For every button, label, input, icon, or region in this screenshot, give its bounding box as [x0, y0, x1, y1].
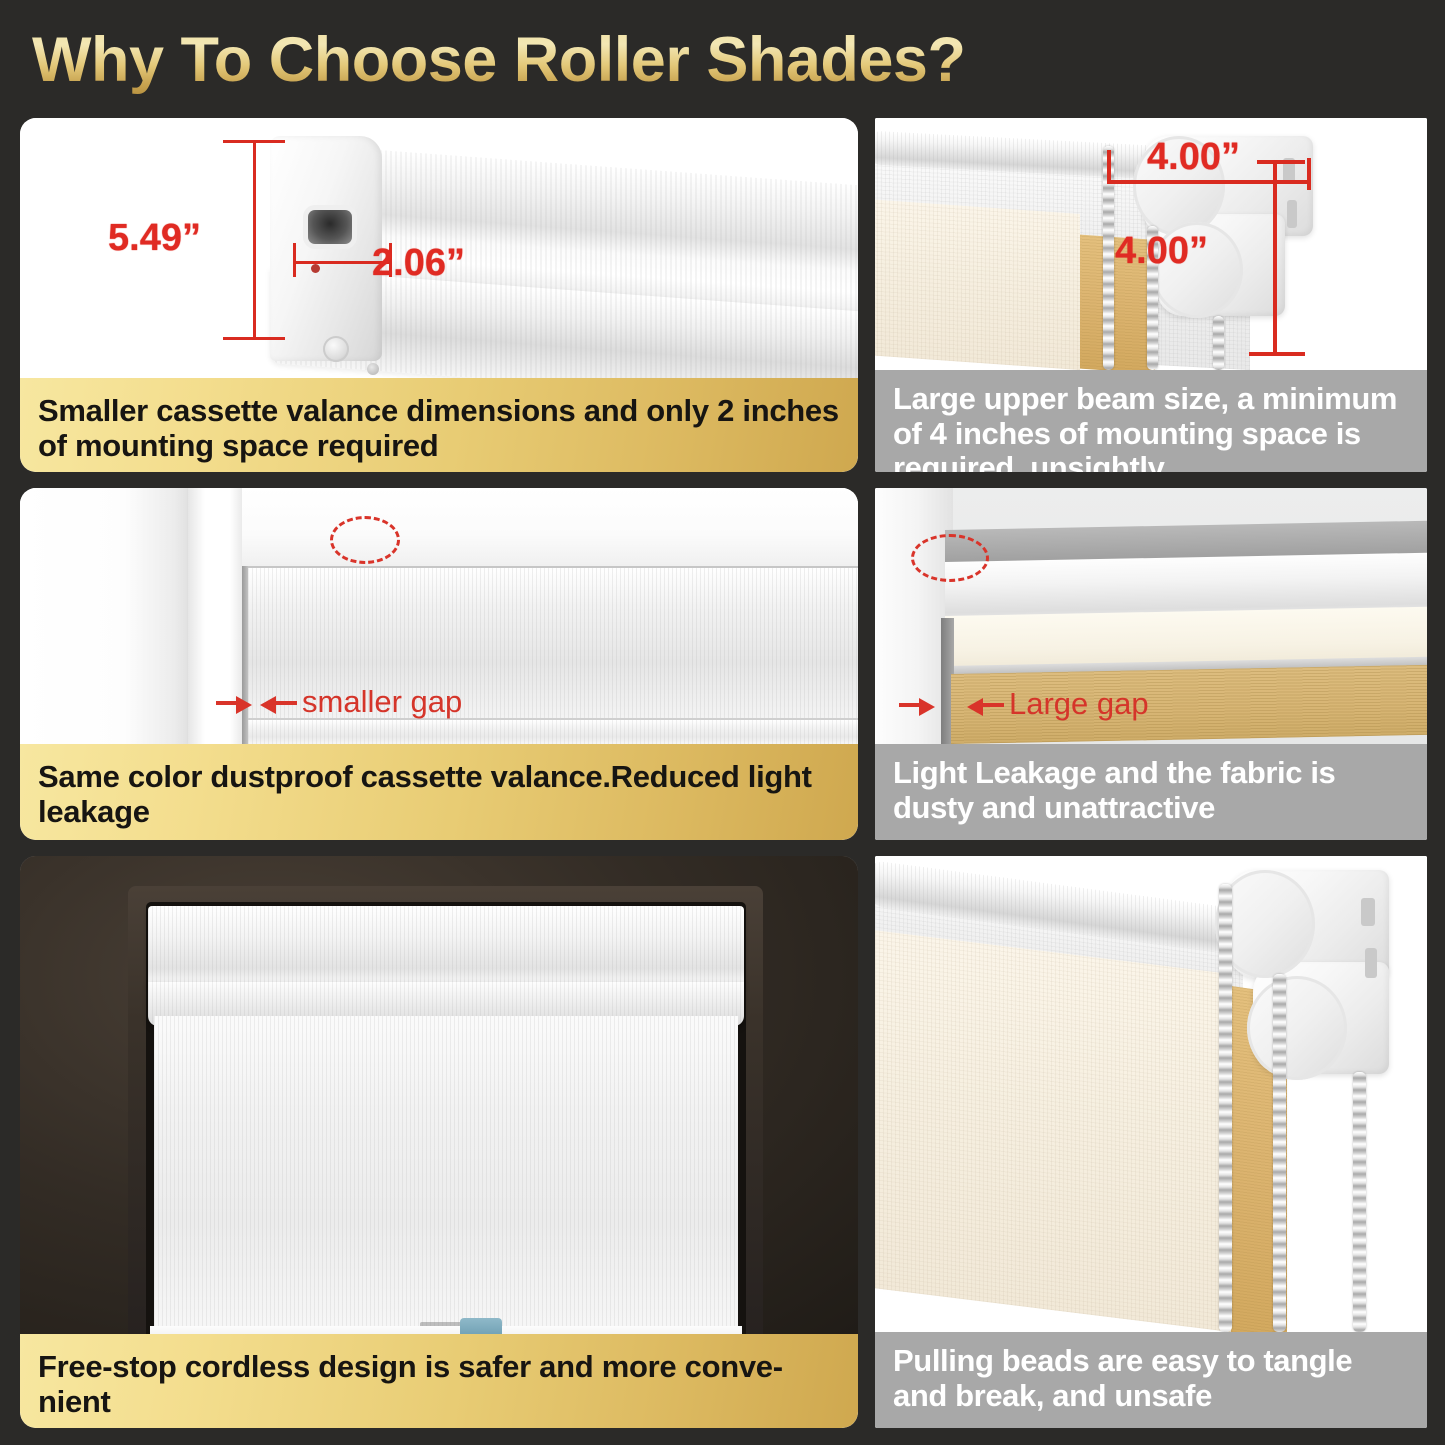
caption-text: Pulling beads are easy to tangle and bre… [893, 1344, 1409, 1413]
height-dimension-cap-top [223, 140, 285, 143]
beam-height-cap-bottom [1249, 352, 1305, 356]
shade-fabric-cream [875, 929, 1231, 1332]
gap-arrow-left-stem [216, 701, 238, 705]
gap-arrow-right-stem [275, 701, 297, 705]
shade-fabric-cream [875, 199, 1080, 370]
width-dimension-cap-left [293, 243, 296, 277]
cassette-valance [148, 906, 744, 986]
panel-large-upper-beam: 4.00” 4.00” Large upper beam size, a min… [875, 118, 1427, 472]
photo-large-upper-beam: 4.00” 4.00” [875, 118, 1427, 370]
gap-arrow-left-stem [899, 703, 921, 707]
panel-dustproof-cassette-valance: smaller gap Same color dustproof cassett… [20, 488, 858, 840]
height-dimension-label: 5.49” [108, 217, 201, 260]
smaller-gap-label: smaller gap [302, 684, 462, 720]
valance-screw-small [367, 363, 379, 375]
bead-chain-right [1353, 1072, 1366, 1332]
bead-chain-middle [1273, 974, 1286, 1332]
gap-arrow-left [236, 696, 252, 714]
caption-text: Light Leakage and the fabric is dusty an… [893, 756, 1409, 825]
caption-text: Same color dustproof cassette valance.Re… [38, 760, 840, 829]
photo-cordless-window [20, 856, 858, 1334]
width-dimension-label: 2.06” [372, 242, 465, 285]
bracket-lobe-lower [1247, 976, 1347, 1080]
caption-pulling-beads: Pulling beads are easy to tangle and bre… [875, 1332, 1427, 1428]
page-title: Why To Choose Roller Shades? [32, 24, 1032, 96]
photo-light-leakage: Large gap [875, 488, 1427, 744]
pull-tab [460, 1318, 502, 1334]
gap-highlight-circle [330, 516, 400, 564]
shade-lower-section [248, 718, 858, 744]
beam-width-label: 4.00” [1147, 136, 1240, 179]
shade-fabric [154, 1016, 738, 1334]
photo-dustproof-valance: smaller gap [20, 488, 858, 744]
bracket-slot-bottom [1287, 200, 1297, 228]
panel-free-stop-cordless: Free-stop cordless design is safer and m… [20, 856, 858, 1428]
caption-cassette-valance-dimensions: Smaller cassette valance dimensions and … [20, 378, 858, 472]
bottom-rail [150, 1326, 742, 1334]
gap-arrow-right [967, 698, 983, 716]
infographic-root: Why To Choose Roller Shades? 5.49” 2.06”… [0, 0, 1445, 1445]
caption-dustproof-cassette-valance: Same color dustproof cassette valance.Re… [20, 744, 858, 840]
large-gap-label: Large gap [1009, 686, 1149, 722]
valance-screw [323, 336, 349, 362]
gap-arrow-right [260, 696, 276, 714]
photo-cassette-valance: 5.49” 2.06” [20, 118, 858, 378]
height-dimension-line [253, 140, 256, 340]
gap-arrow-left [919, 698, 935, 716]
panel-cassette-valance-dimensions: 5.49” 2.06” Smaller cassette valance dim… [20, 118, 858, 472]
valance-slot [308, 210, 352, 244]
bracket-slot-top [1361, 898, 1375, 926]
bead-chain-right [1213, 316, 1224, 370]
beam-width-cap-right [1307, 158, 1311, 190]
caption-large-upper-beam: Large upper beam size, a minimum of 4 in… [875, 370, 1427, 472]
bead-chain-left [1219, 884, 1232, 1332]
beam-height-cap-top [1257, 160, 1305, 164]
panel-light-leakage: Large gap Light Leakage and the fabric i… [875, 488, 1427, 840]
panel-pulling-beads: Pulling beads are easy to tangle and bre… [875, 856, 1427, 1428]
bracket-slot-bottom [1365, 948, 1377, 978]
beam-height-dimension-line [1273, 160, 1277, 356]
caption-text: Large upper beam size, a minimum of 4 in… [893, 382, 1409, 472]
caption-free-stop-cordless: Free-stop cordless design is safer and m… [20, 1334, 858, 1428]
gap-highlight-circle [911, 534, 989, 582]
beam-width-dimension-line [1107, 180, 1311, 184]
height-dimension-cap-bottom [223, 337, 285, 340]
caption-text: Free-stop cordless design is safer and m… [38, 1350, 840, 1419]
photo-pulling-beads [875, 856, 1427, 1332]
gap-arrow-right-stem [982, 703, 1004, 707]
caption-text: Smaller cassette valance dimensions and … [38, 394, 840, 463]
dimension-anchor-dot [311, 264, 320, 273]
caption-light-leakage: Light Leakage and the fabric is dusty an… [875, 744, 1427, 840]
beam-height-label: 4.00” [1115, 230, 1208, 273]
beam-width-cap-left [1107, 150, 1111, 184]
